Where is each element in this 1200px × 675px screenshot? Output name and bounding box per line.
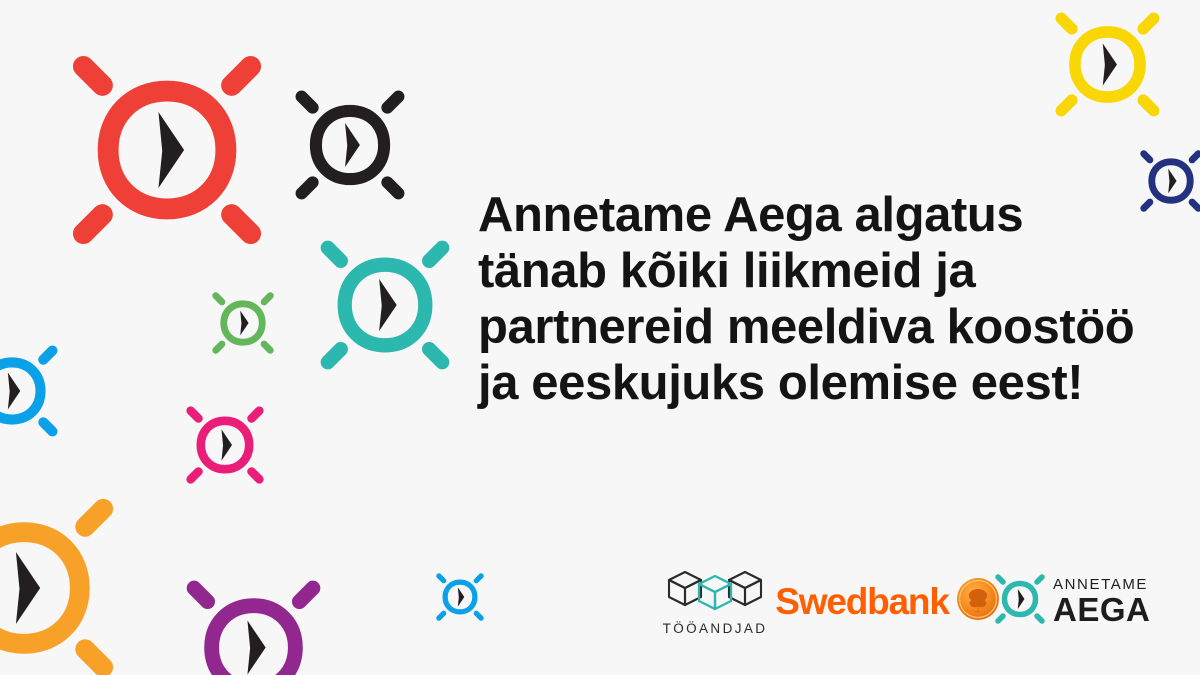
clock-cyan-left-icon xyxy=(0,345,58,437)
clock-purple-icon xyxy=(186,580,321,675)
clock-teal-icon xyxy=(320,240,450,370)
logo-swedbank[interactable]: Swedbank xyxy=(780,577,995,626)
clock-navy-icon xyxy=(1140,150,1200,212)
aega-line-annetame: ANNETAME xyxy=(1053,577,1148,592)
aega-line-aega: AEGA xyxy=(1053,593,1150,626)
clock-cyan-small-icon xyxy=(436,573,484,621)
swedbank-wordmark: Swedbank xyxy=(775,583,948,620)
logo-annetame-aega[interactable]: ANNETAME AEGA xyxy=(995,574,1170,629)
partner-logo-strip: TÖÖANDJAD Swedbank xyxy=(650,556,1190,646)
logo-tooandjad[interactable]: TÖÖANDJAD xyxy=(650,566,780,636)
clock-yellow-icon xyxy=(1055,12,1160,117)
clock-orange-icon xyxy=(0,498,114,675)
tooandjad-cubes-icon xyxy=(663,566,767,619)
clock-pink-icon xyxy=(186,406,264,484)
clock-red-icon xyxy=(72,55,262,245)
tooandjad-wordmark: TÖÖANDJAD xyxy=(663,622,768,636)
annetame-aega-wordmark: ANNETAME AEGA xyxy=(1053,577,1150,626)
clock-black-icon xyxy=(295,90,405,200)
clock-green-icon xyxy=(212,292,274,354)
swedbank-oak-coin-icon xyxy=(956,577,1000,626)
headline-text: Annetame Aega algatus tänab kõiki liikme… xyxy=(478,188,1138,411)
annetame-aega-clock-icon xyxy=(995,574,1045,629)
poster-canvas: Annetame Aega algatus tänab kõiki liikme… xyxy=(0,0,1200,675)
